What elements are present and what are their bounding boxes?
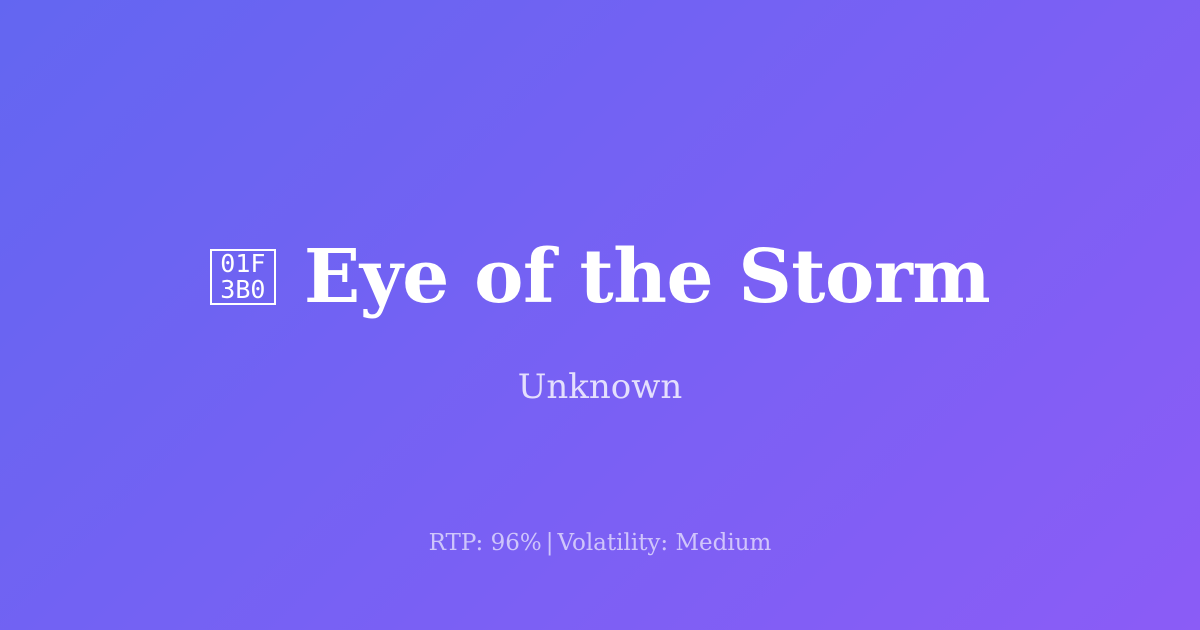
game-title: Eye of the Storm: [304, 240, 990, 314]
slot-machine-emoji-icon: 01F 3B0: [210, 249, 276, 305]
game-info-card: 01F 3B0 Eye of the Storm Unknown RTP: 96…: [0, 0, 1200, 630]
tofu-codepoint-line-2: 3B0: [220, 277, 265, 303]
title-row: 01F 3B0 Eye of the Storm: [0, 236, 1200, 318]
tofu-codepoint-line-1: 01F: [220, 251, 265, 277]
meta-separator: |: [542, 530, 558, 556]
rtp-label: RTP: 96%: [429, 530, 542, 556]
game-provider: Unknown: [0, 365, 1200, 409]
volatility-label: Volatility: Medium: [557, 530, 771, 556]
game-meta-line: RTP: 96%|Volatility: Medium: [0, 528, 1200, 558]
